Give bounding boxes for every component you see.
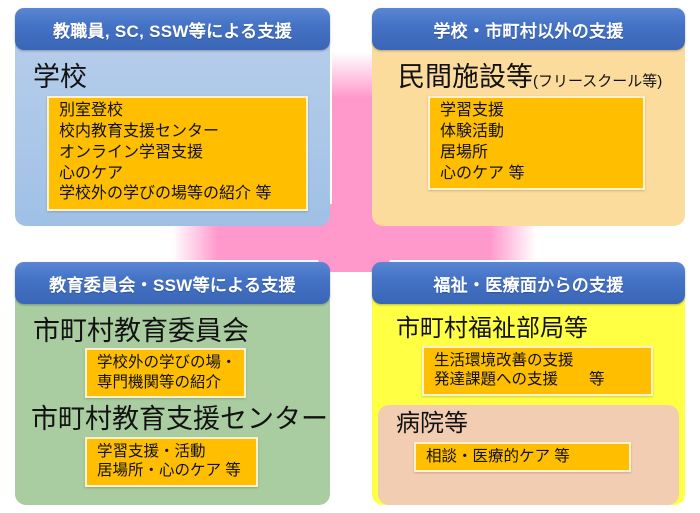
detail-line: 学校外の学びの場等の紹介 等 (59, 184, 298, 205)
detail-box-welfare-bureau: 生活環境改善の支援 発達課題への支援 等 (422, 346, 653, 396)
quadrant-body-board-of-education: 市町村教育委員会 学校外の学びの場・ 専門機関等の紹介 市町村教育支援センター … (15, 290, 330, 505)
quadrant-card-school: 学校 別室登校 校内教育支援センター オンライン学習支援 心のケア 学校外の学び… (15, 8, 330, 226)
section-heading-main: 民間施設等 (398, 62, 533, 92)
detail-box-private: 学習支援 体験活動 居場所 心のケア 等 (428, 96, 645, 190)
detail-box-support-center: 学習支援・活動 居場所・心のケア 等 (85, 437, 258, 487)
section-heading-school: 学校 (33, 62, 320, 92)
section-heading-welfare-bureau: 市町村福祉部局等 (396, 316, 675, 343)
detail-box-municipal-board: 学校外の学びの場・ 専門機関等の紹介 (85, 348, 246, 398)
section-heading-private: 民間施設等(フリースクール等) (398, 62, 675, 92)
quadrant-header-label: 学校・市町村以外の支援 (433, 17, 623, 42)
quadrant-header-welfare-medical: 福祉・医療面からの支援 (372, 262, 685, 304)
detail-line: 学校外の学びの場・ (97, 353, 236, 373)
detail-line: 心のケア (59, 164, 298, 185)
quadrant-header-label: 教育委員会・SSW等による支援 (49, 271, 296, 296)
detail-line: 別室登校 (59, 101, 298, 122)
detail-line: 居場所・心のケア 等 (97, 461, 248, 481)
quadrant-card-board-of-education: 市町村教育委員会 学校外の学びの場・ 専門機関等の紹介 市町村教育支援センター … (15, 262, 330, 505)
quadrant-header-board-of-education: 教育委員会・SSW等による支援 (15, 262, 330, 304)
detail-line: 生活環境改善の支援 (434, 351, 643, 371)
quadrant-body-private: 民間施設等(フリースクール等) 学習支援 体験活動 居場所 心のケア 等 (372, 36, 685, 226)
section-heading-municipal-board: 市町村教育委員会 (33, 316, 320, 346)
quadrant-header-private: 学校・市町村以外の支援 (372, 8, 685, 50)
quadrant-header-label: 教職員, SC, SSW等による支援 (53, 17, 292, 42)
detail-box-school: 別室登校 校内教育支援センター オンライン学習支援 心のケア 学校外の学びの場等… (47, 96, 308, 211)
quadrant-card-private: 民間施設等(フリースクール等) 学習支援 体験活動 居場所 心のケア 等 学校・… (372, 8, 685, 226)
quadrant-card-welfare-medical: 市町村福祉部局等 生活環境改善の支援 発達課題への支援 等 病院等 相談・医療的… (372, 262, 685, 505)
detail-line: 学習支援 (440, 101, 635, 122)
quadrant-header-label: 福祉・医療面からの支援 (433, 271, 623, 296)
section-heading-sub: (フリースクール等) (533, 73, 662, 90)
section-heading-hospital: 病院等 (396, 411, 679, 438)
quadrant-panel-hospital: 病院等 相談・医療的ケア 等 (378, 405, 679, 505)
detail-line: オンライン学習支援 (59, 143, 298, 164)
detail-line: 相談・医療的ケア 等 (426, 447, 621, 467)
quadrant-header-school: 教職員, SC, SSW等による支援 (15, 8, 330, 50)
section-heading-support-center: 市町村教育支援センター (31, 404, 320, 434)
detail-line: 発達課題への支援 等 (434, 370, 643, 390)
detail-box-hospital: 相談・医療的ケア 等 (414, 442, 631, 473)
detail-line: 居場所 (440, 143, 635, 164)
detail-line: 心のケア 等 (440, 164, 635, 185)
quadrant-body-school: 学校 別室登校 校内教育支援センター オンライン学習支援 心のケア 学校外の学び… (15, 36, 330, 226)
detail-line: 校内教育支援センター (59, 122, 298, 143)
detail-line: 体験活動 (440, 122, 635, 143)
detail-line: 専門機関等の紹介 (97, 373, 236, 393)
diagram-canvas: 学校 別室登校 校内教育支援センター オンライン学習支援 心のケア 学校外の学び… (0, 0, 700, 513)
detail-line: 学習支援・活動 (97, 442, 248, 462)
